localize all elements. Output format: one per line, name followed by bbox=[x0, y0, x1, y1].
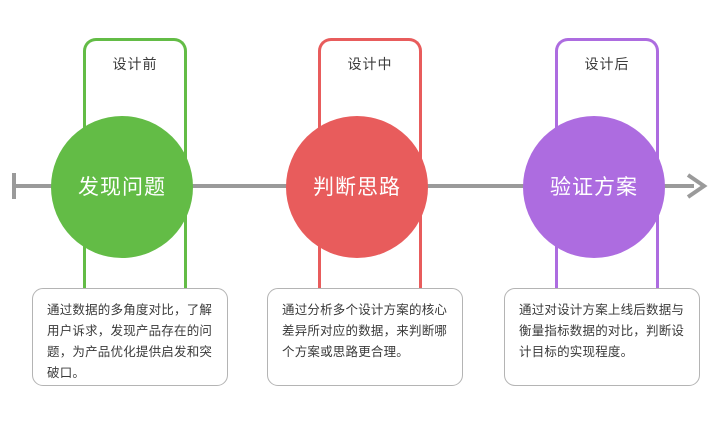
stage-description-text-3: 通过对设计方案上线后数据与衡量指标数据的对比，判断设计目标的实现程度。 bbox=[519, 299, 685, 362]
stage-circle-3[interactable]: 验证方案 bbox=[523, 116, 665, 258]
stage-circle-2[interactable]: 判断思路 bbox=[286, 116, 428, 258]
stage-circle-label-3: 验证方案 bbox=[550, 175, 638, 199]
phase-label-2: 设计中 bbox=[318, 56, 422, 74]
stage-group-3: 设计后 验证方案 通过对设计方案上线后数据与衡量指标数据的对比，判断设计目标的实… bbox=[492, 0, 720, 429]
stage-circle-label-2: 判断思路 bbox=[313, 175, 401, 199]
diagram-canvas: 设计前 发现问题 通过数据的多角度对比，了解用户诉求，发现产品存在的问题，为产品… bbox=[0, 0, 720, 429]
stage-description-card-1: 通过数据的多角度对比，了解用户诉求，发现产品存在的问题，为产品优化提供启发和突破… bbox=[32, 288, 228, 386]
phase-label-1: 设计前 bbox=[83, 56, 187, 74]
stage-circle-1[interactable]: 发现问题 bbox=[51, 116, 193, 258]
stage-circle-label-1: 发现问题 bbox=[78, 175, 166, 199]
stage-group-2: 设计中 判断思路 通过分析多个设计方案的核心差异所对应的数据，来判断哪个方案或思… bbox=[255, 0, 485, 429]
phase-label-3: 设计后 bbox=[555, 56, 659, 74]
stage-description-card-3: 通过对设计方案上线后数据与衡量指标数据的对比，判断设计目标的实现程度。 bbox=[504, 288, 700, 386]
stage-description-text-1: 通过数据的多角度对比，了解用户诉求，发现产品存在的问题，为产品优化提供启发和突破… bbox=[47, 299, 213, 383]
stage-group-1: 设计前 发现问题 通过数据的多角度对比，了解用户诉求，发现产品存在的问题，为产品… bbox=[20, 0, 250, 429]
stage-description-text-2: 通过分析多个设计方案的核心差异所对应的数据，来判断哪个方案或思路更合理。 bbox=[282, 299, 448, 362]
stage-description-card-2: 通过分析多个设计方案的核心差异所对应的数据，来判断哪个方案或思路更合理。 bbox=[267, 288, 463, 386]
